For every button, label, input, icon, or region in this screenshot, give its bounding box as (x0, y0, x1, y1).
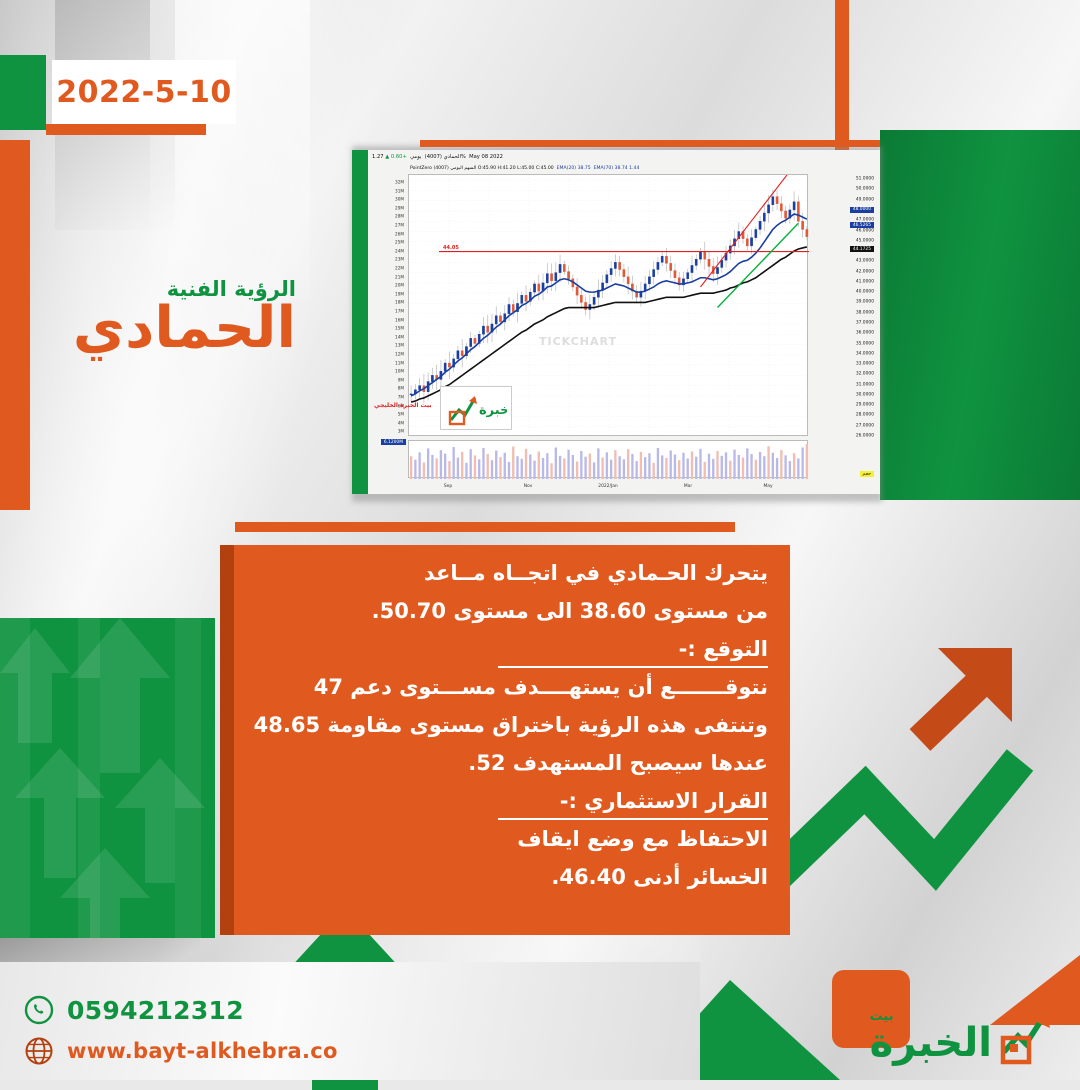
trend-arrow-graphic (760, 630, 1080, 960)
left-axis-tick: 10M (395, 369, 404, 374)
volume-chart-svg (409, 441, 809, 479)
stock-chart-card[interactable]: الحمادي (4007) يومي +0.60 ▲ 1.27% May 08… (368, 150, 880, 494)
price-tick: 46.0000 (856, 228, 874, 233)
analysis-line: الاحتفاظ مع وضع ايقاف (252, 829, 768, 850)
footer-phone-text: 0594212312 (67, 996, 244, 1025)
chart-ema20: EMA(20) 38.75 (557, 166, 591, 171)
price-tick: 43.0000 (856, 259, 874, 264)
price-badge: 46.5265 (850, 222, 874, 228)
price-tick: 45.0000 (856, 238, 874, 243)
brand-title: الحمادي (73, 299, 296, 359)
price-tick: 29.0000 (856, 403, 874, 408)
orange-arrowhead-icon (920, 648, 1012, 740)
date-tick: May (763, 484, 772, 489)
left-axis-tick: 12M (395, 352, 404, 357)
left-axis-tick: 25M (395, 240, 404, 245)
chart-ticker-code: (4007) (425, 154, 442, 160)
orange-accent-strip-left (0, 140, 30, 510)
analysis-heading: القرار الاستثماري :- (252, 791, 768, 812)
price-tick: 30.0000 (856, 392, 874, 397)
footer-phone-row[interactable]: 0594212312 (24, 995, 244, 1025)
date-text: 2022-5-10 (56, 75, 232, 110)
left-axis-tick: 15M (395, 326, 404, 331)
volume-badge: حجم (860, 471, 874, 477)
left-axis-tick: 22M (395, 266, 404, 271)
chart-ohlc-line: PointZero السهم اليومي (4007) O:45.90 H:… (410, 166, 554, 171)
left-axis-tick: 19M (395, 291, 404, 296)
analysis-text-block: يتحرك الحـمادي في اتجــاه مــاعدمن مستوى… (234, 545, 790, 935)
left-axis-tick: 23M (395, 257, 404, 262)
left-axis-tick: 26M (395, 231, 404, 236)
green-panel-right (880, 130, 1080, 500)
left-axis-tick: 14M (395, 334, 404, 339)
up-triangle-icon: ▲ (385, 154, 389, 160)
left-axis-tick: 18M (395, 300, 404, 305)
whatsapp-icon (24, 995, 54, 1025)
price-tick: 28.0000 (856, 413, 874, 418)
brand-logo-word: الخبرة (870, 1024, 992, 1062)
price-tick: 39.0000 (856, 300, 874, 305)
chart-ticker-name: الحمادي (444, 154, 461, 160)
analysis-line: من مستوى 38.60 الى مستوى 50.70. (252, 601, 768, 622)
globe-icon (24, 1036, 54, 1066)
analysis-line: وتنتفى هذه الرؤية باختراق مستوى مقاومة 4… (252, 715, 768, 736)
chart-x-axis: SepNov2022/JanMarMay (408, 478, 808, 490)
price-tick: 31.0000 (856, 382, 874, 387)
chart-left-axis: 32M31M30M29M28M27M26M25M24M23M22M21M20M1… (370, 174, 406, 436)
analysis-line: نتوقـــــــع أن يستهــــدف مســـتوى دعم … (252, 677, 768, 698)
price-tick: 33.0000 (856, 362, 874, 367)
price-tick: 40.0000 (856, 290, 874, 295)
price-tick: 34.0000 (856, 351, 874, 356)
price-tick: 27.0000 (856, 423, 874, 428)
price-badge: 48.0000 (850, 207, 874, 213)
price-tick: 36.0000 (856, 331, 874, 336)
left-axis-tick: 11M (395, 360, 404, 365)
left-axis-tick: 5M (398, 412, 404, 417)
analysis-line: يتحرك الحـمادي في اتجــاه مــاعد (252, 563, 768, 584)
analysis-panel-edge (220, 545, 234, 935)
green-panel-left (0, 618, 215, 938)
date-tick: 2022/Jan (598, 484, 617, 489)
date-tick: Nov (524, 484, 533, 489)
left-axis-tick: 4M (398, 420, 404, 425)
date-badge: 2022-5-10 (52, 60, 236, 124)
background-facet-2 (150, 0, 310, 300)
left-axis-tick: 7M (398, 395, 404, 400)
price-tick: 41.0000 (856, 279, 874, 284)
left-axis-tick: 16M (395, 317, 404, 322)
left-axis-tick: 24M (395, 248, 404, 253)
left-axis-tick: 13M (395, 343, 404, 348)
price-tick: 50.0000 (856, 187, 874, 192)
footer-website-row[interactable]: www.bayt-alkhebra.co (24, 1036, 338, 1066)
price-tick: 42.0000 (856, 269, 874, 274)
chart-timeframe: يومي (410, 154, 421, 160)
left-axis-tick: 31M (395, 188, 404, 193)
orange-accent-strip-top (835, 0, 849, 160)
chart-volume-area (408, 440, 808, 478)
price-badge: 44.1725 (850, 246, 874, 252)
analysis-line: عندها سيصبح المستهدف 52. (252, 753, 768, 774)
date-underline (46, 124, 206, 135)
left-axis-tick: 17M (395, 309, 404, 314)
resistance-label: 44.05 (443, 245, 459, 251)
left-axis-tick: 9M (398, 377, 404, 382)
left-axis-tick: 28M (395, 214, 404, 219)
chart-change-abs: +0.60 (391, 154, 407, 160)
analysis-top-accent-bar (235, 522, 735, 532)
arrow-pattern-icon (0, 618, 215, 938)
left-axis-tick: 29M (395, 205, 404, 210)
brand-logo-bottom-right: بيت الخبرة (870, 1002, 1062, 1068)
brand-title-block: الرؤية الفنية الحمادي (73, 278, 296, 359)
bayt-alkhebra-logo-icon: خبرة (445, 390, 507, 426)
chart-orange-accent (420, 140, 880, 147)
left-axis-badge: 6.1200M (381, 439, 406, 445)
chart-ema70: EMA(70) 38.74 1.44 (594, 166, 640, 171)
chart-right-axis: 51.000050.000049.000048.000047.000046.00… (810, 174, 876, 478)
price-tick: 37.0000 (856, 320, 874, 325)
chart-watermark-text: TICKCHART (539, 335, 617, 348)
price-tick: 38.0000 (856, 310, 874, 315)
chart-watermark-logo: خبرة (440, 386, 512, 430)
green-trend-line (760, 760, 1020, 930)
footer-website-text: www.bayt-alkhebra.co (67, 1039, 338, 1063)
analysis-heading: التوقع :- (252, 639, 768, 660)
green-tab-left (0, 55, 46, 130)
left-axis-tick: 27M (395, 223, 404, 228)
left-axis-tick: 3M (398, 429, 404, 434)
left-axis-tick: 20M (395, 283, 404, 288)
svg-text:خبرة: خبرة (479, 403, 507, 418)
house-growth-icon (996, 1002, 1062, 1068)
left-axis-tick: 32M (395, 180, 404, 185)
date-tick: Sep (444, 484, 452, 489)
price-tick: 49.0000 (856, 197, 874, 202)
left-axis-tick: 30M (395, 197, 404, 202)
left-axis-tick: 8M (398, 386, 404, 391)
price-tick: 35.0000 (856, 341, 874, 346)
price-tick: 26.0000 (856, 434, 874, 439)
chart-quote-date: May 08 2022 (469, 154, 503, 160)
price-tick: 32.0000 (856, 372, 874, 377)
chart-header: الحمادي (4007) يومي +0.60 ▲ 1.27% May 08… (372, 154, 876, 166)
date-tick: Mar (684, 484, 692, 489)
analysis-line: الخسائر أدنى 46.40. (252, 867, 768, 888)
price-tick: 51.0000 (856, 177, 874, 182)
chart-watermark-caption: بيت الخبرة الخليجي (374, 402, 432, 409)
left-axis-tick: 21M (395, 274, 404, 279)
